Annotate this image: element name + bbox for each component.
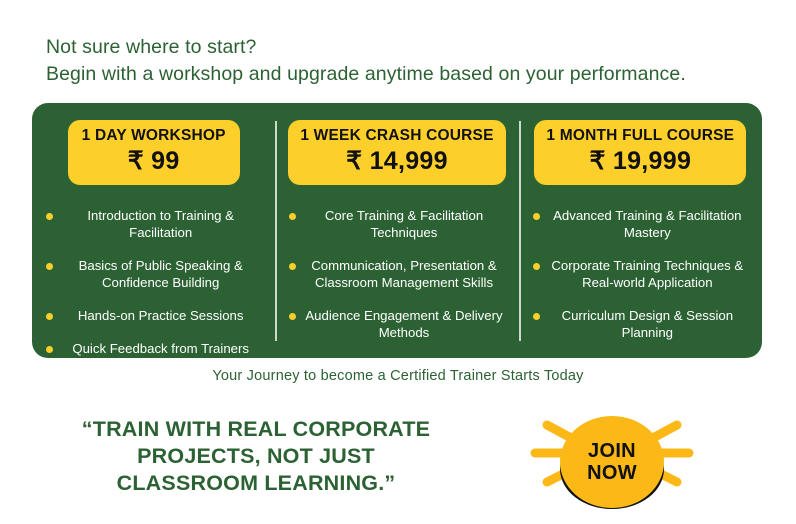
- bullet-dot-icon: [289, 313, 296, 320]
- pricing-panel: 1 DAY WORKSHOP ₹ 99 Introduction to Trai…: [32, 103, 762, 358]
- pricing-column-1-day-workshop[interactable]: 1 DAY WORKSHOP ₹ 99 Introduction to Trai…: [32, 103, 275, 358]
- intro-heading-line-1: Not sure where to start?: [46, 34, 766, 61]
- list-item: Core Training & Facilitation Techniques: [289, 207, 504, 241]
- bullet-dot-icon: [46, 346, 53, 353]
- list-item: Corporate Training Techniques & Real-wor…: [533, 257, 748, 291]
- list-item: Quick Feedback from Trainers: [46, 340, 261, 357]
- list-item: Audience Engagement & Delivery Methods: [289, 307, 504, 341]
- feature-text: Audience Engagement & Delivery Methods: [303, 307, 504, 341]
- plan-title-3: 1 MONTH FULL COURSE: [546, 126, 734, 146]
- list-item: Advanced Training & Facilitation Mastery: [533, 207, 748, 241]
- intro-heading-line-2: Begin with a workshop and upgrade anytim…: [46, 61, 766, 88]
- plan-features-3: Advanced Training & Facilitation Mastery…: [519, 207, 762, 341]
- plan-pill-1[interactable]: 1 DAY WORKSHOP ₹ 99: [68, 120, 240, 185]
- feature-text: Hands-on Practice Sessions: [60, 307, 261, 324]
- journey-tagline: Your Journey to become a Certified Train…: [0, 368, 796, 384]
- feature-text: Quick Feedback from Trainers: [60, 340, 261, 357]
- list-item: Basics of Public Speaking & Confidence B…: [46, 257, 261, 291]
- testimonial-quote: “TRAIN WITH REAL CORPORATE PROJECTS, NOT…: [36, 416, 476, 497]
- plan-title-2: 1 WEEK CRASH COURSE: [300, 126, 493, 146]
- bullet-dot-icon: [533, 263, 540, 270]
- list-item: Curriculum Design & Session Planning: [533, 307, 748, 341]
- bullet-dot-icon: [46, 213, 53, 220]
- feature-text: Communication, Presentation & Classroom …: [303, 257, 504, 291]
- plan-price-1: ₹ 99: [80, 147, 228, 176]
- intro-heading: Not sure where to start? Begin with a wo…: [46, 34, 766, 88]
- plan-pill-3[interactable]: 1 MONTH FULL COURSE ₹ 19,999: [534, 120, 746, 185]
- quote-line-1: “TRAIN WITH REAL CORPORATE: [36, 416, 476, 443]
- join-now-button[interactable]: JOIN NOW: [521, 400, 703, 524]
- feature-text: Introduction to Training & Facilitation: [60, 207, 261, 241]
- pricing-column-1-week-crash-course[interactable]: 1 WEEK CRASH COURSE ₹ 14,999 Core Traini…: [275, 103, 518, 358]
- list-item: Communication, Presentation & Classroom …: [289, 257, 504, 291]
- sunburst-icon: [521, 400, 703, 524]
- bullet-dot-icon: [289, 263, 296, 270]
- feature-text: Advanced Training & Facilitation Mastery: [547, 207, 748, 241]
- bullet-dot-icon: [289, 213, 296, 220]
- feature-text: Corporate Training Techniques & Real-wor…: [547, 257, 748, 291]
- feature-text: Basics of Public Speaking & Confidence B…: [60, 257, 261, 291]
- bullet-dot-icon: [533, 313, 540, 320]
- bullet-dot-icon: [533, 213, 540, 220]
- pricing-column-1-month-full-course[interactable]: 1 MONTH FULL COURSE ₹ 19,999 Advanced Tr…: [519, 103, 762, 358]
- plan-features-2: Core Training & Facilitation Techniques …: [275, 207, 518, 341]
- plan-features-1: Introduction to Training & Facilitation …: [32, 207, 275, 357]
- bullet-dot-icon: [46, 263, 53, 270]
- quote-line-3: CLASSROOM LEARNING.”: [36, 470, 476, 497]
- list-item: Introduction to Training & Facilitation: [46, 207, 261, 241]
- plan-title-1: 1 DAY WORKSHOP: [80, 126, 228, 146]
- plan-price-3: ₹ 19,999: [546, 147, 734, 176]
- quote-line-2: PROJECTS, NOT JUST: [36, 443, 476, 470]
- list-item: Hands-on Practice Sessions: [46, 307, 261, 324]
- feature-text: Core Training & Facilitation Techniques: [303, 207, 504, 241]
- plan-pill-2[interactable]: 1 WEEK CRASH COURSE ₹ 14,999: [288, 120, 505, 185]
- badge-circle: [560, 416, 664, 508]
- bullet-dot-icon: [46, 313, 53, 320]
- plan-price-2: ₹ 14,999: [300, 147, 493, 176]
- feature-text: Curriculum Design & Session Planning: [547, 307, 748, 341]
